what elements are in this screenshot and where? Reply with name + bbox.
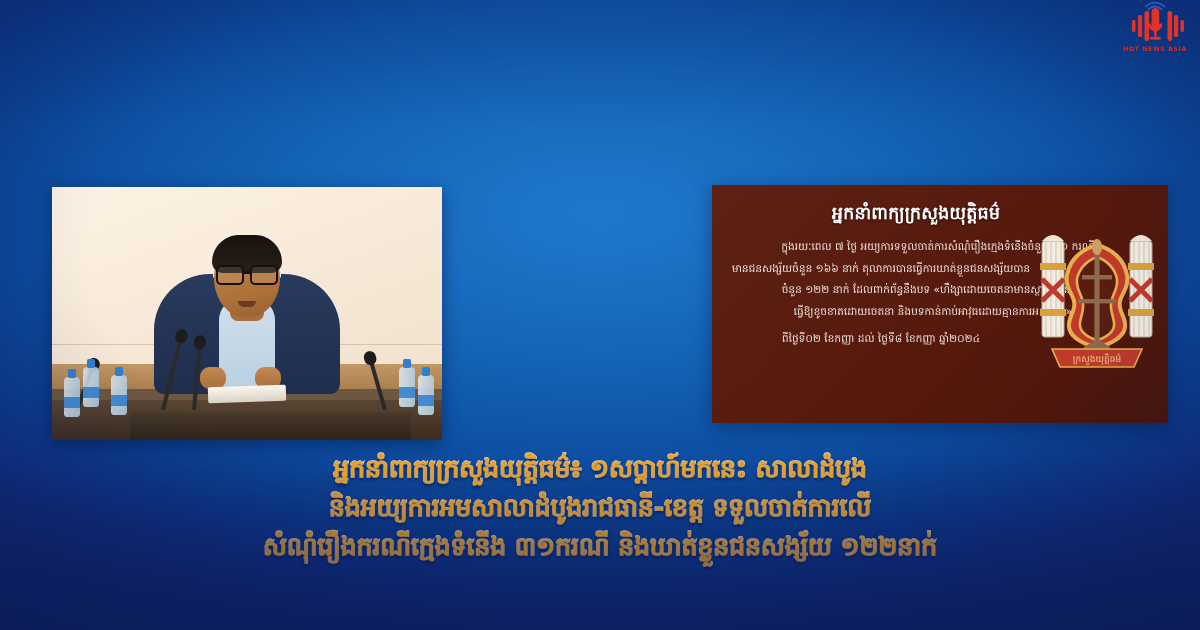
emblem-ribbon: ក្រសួងយុត្តិធម៌ bbox=[1052, 349, 1142, 367]
emblem-right-pillar bbox=[1128, 235, 1154, 337]
press-conference-photo bbox=[52, 187, 442, 440]
open-book bbox=[208, 385, 287, 404]
water-bottle bbox=[418, 375, 434, 415]
news-poster: HOT NEWS ASIA អ្នកនាំពាក្យក bbox=[0, 0, 1200, 630]
podium bbox=[130, 412, 411, 440]
svg-text:ក្រសួងយុត្តិធម៌: ក្រសួងយុត្តិធម៌ bbox=[1073, 353, 1122, 365]
emblem-left-pillar bbox=[1040, 235, 1066, 337]
ministry-of-justice-emblem: ក្រសួងយុត្តិធម៌ bbox=[1034, 223, 1160, 373]
channel-logo[interactable]: HOT NEWS ASIA bbox=[1118, 2, 1192, 54]
water-bottle bbox=[111, 375, 127, 415]
headline-line-1: អ្នកនាំពាក្យក្រសួងយុត្តិធម៌៖ ១សប្តាហ៍មកន… bbox=[0, 452, 1200, 485]
headline: អ្នកនាំពាក្យក្រសួងយុត្តិធម៌៖ ១សប្តាហ៍មកន… bbox=[0, 452, 1200, 563]
water-bottle bbox=[83, 367, 99, 407]
channel-logo-text: HOT NEWS ASIA bbox=[1118, 46, 1192, 53]
speaker-glasses bbox=[216, 265, 278, 282]
statement-card: អ្នកនាំពាក្យក្រសួងយុត្តិធម៌ ក្នុងរយៈពេល … bbox=[712, 185, 1168, 423]
water-bottle bbox=[64, 377, 80, 417]
microphone-soundwave-icon bbox=[1118, 2, 1192, 48]
water-bottle bbox=[399, 367, 415, 407]
headline-line-2: និងអយ្យការអមសាលាដំបូងរាជធានី-ខេត្ត ទទួលច… bbox=[0, 491, 1200, 524]
headline-line-3: សំណុំរឿងករណីក្មេងទំនើង ៣១ករណី និងឃាត់ខ្ល… bbox=[0, 530, 1200, 563]
